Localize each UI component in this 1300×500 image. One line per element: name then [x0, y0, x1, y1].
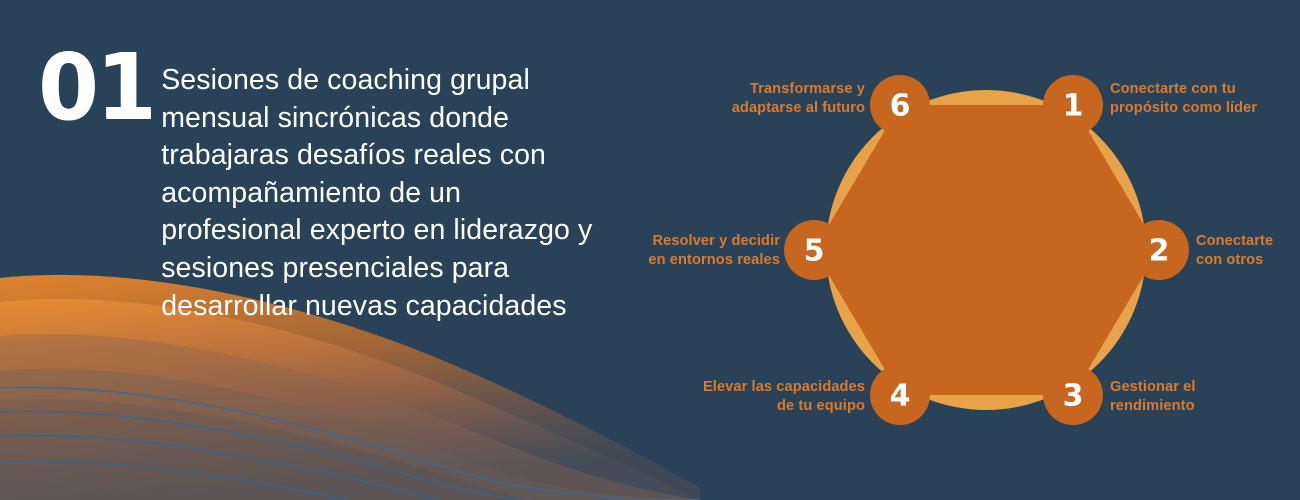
- node-label-1: Conectarte con tu propósito como líder: [1110, 80, 1295, 117]
- node-number-2: 2: [1149, 234, 1170, 269]
- node-number-5: 5: [804, 234, 825, 269]
- node-number-4: 4: [890, 379, 911, 414]
- step-number: 01: [38, 48, 154, 127]
- hexagon-cycle-diagram: 1 2 3 4 5 6 Conectarte con tu propósito …: [640, 0, 1300, 500]
- node-number-3: 3: [1063, 379, 1084, 414]
- node-label-6: Transformarse y adaptarse al futuro: [680, 80, 865, 117]
- node-label-4: Elevar las capacidades de tu equipo: [650, 378, 865, 415]
- node-label-3: Gestionar el rendimiento: [1110, 378, 1270, 415]
- node-label-2: Conectarte con otros: [1196, 232, 1300, 269]
- step-description: Sesiones de coaching grupal mensual sinc…: [161, 48, 601, 325]
- slide-canvas: 01 Sesiones de coaching grupal mensual s…: [0, 0, 1300, 500]
- node-number-1: 1: [1063, 89, 1084, 124]
- left-text-block: 01 Sesiones de coaching grupal mensual s…: [38, 48, 618, 325]
- node-label-5: Resolver y decidir en entornos reales: [620, 232, 780, 269]
- node-number-6: 6: [890, 89, 911, 124]
